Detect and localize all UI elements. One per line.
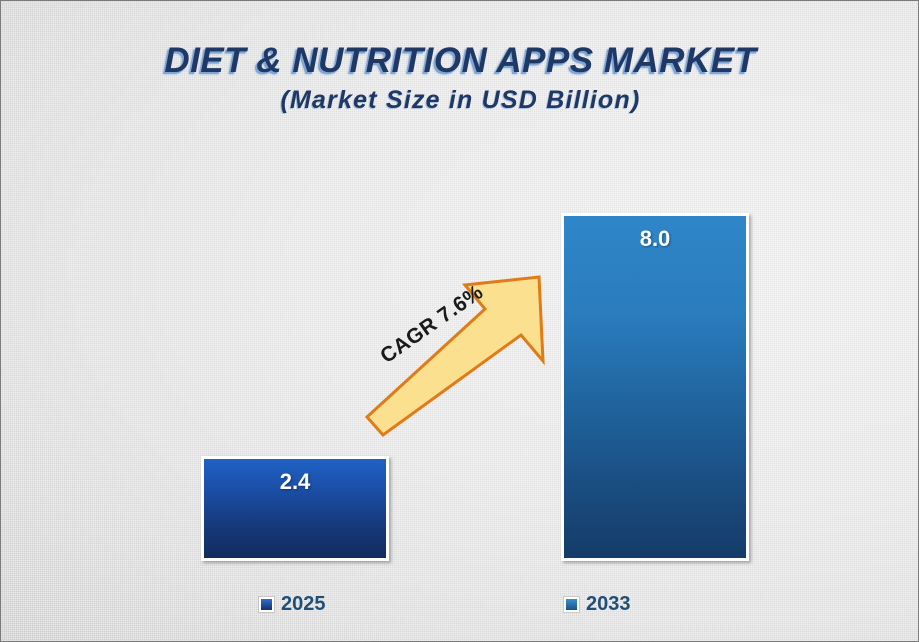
- legend-swatch-2033: [564, 597, 579, 612]
- bar-2025[interactable]: 2.4: [201, 456, 389, 561]
- legend-label-2033: 2033: [586, 593, 631, 616]
- legend-item-2025[interactable]: 2025: [259, 593, 326, 616]
- cagr-arrow: CAGR 7.6%: [361, 269, 551, 439]
- legend-swatch-2025: [259, 597, 274, 612]
- bar-value-2033: 8.0: [564, 226, 746, 252]
- legend-item-2033[interactable]: 2033: [564, 593, 631, 616]
- title-block: DIET & NUTRITION APPS MARKET (Market Siz…: [1, 43, 919, 115]
- chart-title: DIET & NUTRITION APPS MARKET: [1, 43, 919, 80]
- bar-2033[interactable]: 8.0: [561, 213, 749, 561]
- chart-canvas: DIET & NUTRITION APPS MARKET (Market Siz…: [0, 0, 919, 642]
- chart-subtitle: (Market Size in USD Billion): [1, 86, 919, 115]
- bar-value-2025: 2.4: [204, 469, 386, 495]
- legend-label-2025: 2025: [281, 593, 326, 616]
